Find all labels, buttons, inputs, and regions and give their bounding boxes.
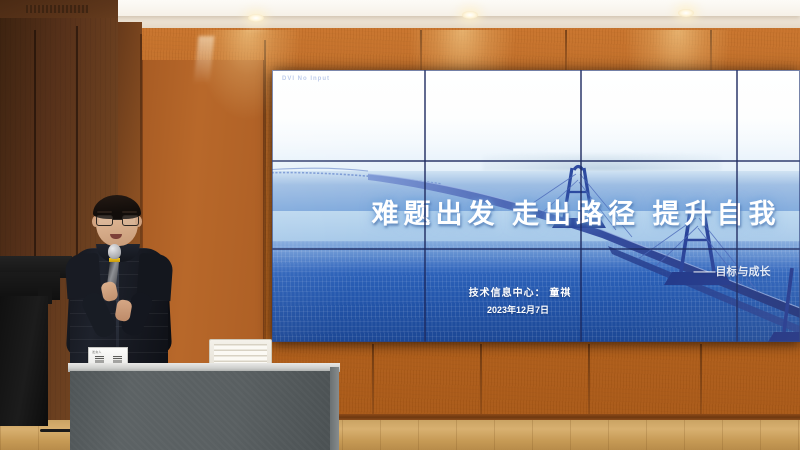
wall-panel-seam [480, 344, 482, 416]
wall-panel-seam [700, 344, 702, 416]
video-wall-osd-label: DVI No Input [282, 76, 330, 82]
glasses-icon [95, 215, 140, 226]
wall-panel-seam [420, 30, 422, 72]
eyebrow-left [97, 211, 112, 213]
glasses-lens-left [96, 215, 113, 226]
conference-room-scene: DVI No Input 难题出发 走出路径 提升自我 ——目标与成长 技术信息… [0, 0, 800, 450]
video-wall-bezel-vertical [580, 70, 582, 342]
downlight-3-icon [678, 9, 694, 17]
video-wall-bezel-horizontal [272, 248, 800, 250]
glasses-lens-right [122, 215, 139, 226]
wall-panel-seam [710, 30, 712, 72]
slide-presenter: 技术信息中心： 童祺 [272, 284, 784, 299]
podium [0, 296, 48, 426]
video-wall-bezel-vertical [736, 70, 738, 342]
wall-panel-seam [588, 344, 590, 416]
video-wall-bezel-vertical [424, 70, 426, 342]
presentation-slide: DVI No Input 难题出发 走出路径 提升自我 ——目标与成长 技术信息… [272, 70, 800, 342]
table-skirt [70, 371, 338, 450]
presenter [64, 196, 174, 372]
ceiling-vent-icon [26, 5, 88, 13]
eyebrow-right [122, 211, 137, 213]
downlight-1-icon [248, 14, 264, 22]
wall-panel-seam [565, 30, 567, 72]
glasses-bridge [113, 219, 122, 220]
floor-cable [40, 429, 74, 432]
table-right-edge [330, 367, 339, 450]
video-wall-bezel-horizontal [272, 160, 800, 162]
lcd-video-wall[interactable]: DVI No Input 难题出发 走出路径 提升自我 ——目标与成长 技术信息… [272, 70, 800, 342]
wall-panel-seam [372, 344, 374, 416]
slide-title: 难题出发 走出路径 提升自我 [312, 192, 800, 231]
slide-date: 2023年12月7日 [272, 303, 782, 316]
nameplate-heading: 发言人 [92, 350, 102, 354]
chair-slats [214, 344, 267, 364]
downlight-2-icon [462, 11, 478, 19]
slide-attribution: ——目标与成长 [468, 263, 800, 279]
microphone-icon [108, 244, 121, 259]
